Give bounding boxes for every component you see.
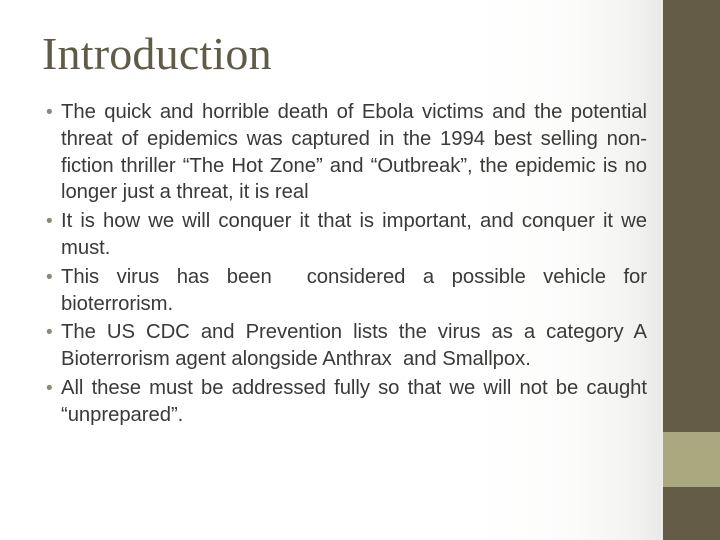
page-title: Introduction <box>42 26 642 82</box>
bullet-dot-icon: • <box>44 264 61 291</box>
bullet-dot-icon: • <box>44 99 61 126</box>
list-item: • The US CDC and Prevention lists the vi… <box>44 319 647 373</box>
bullet-dot-icon: • <box>44 208 61 235</box>
sidebar-accent-block <box>663 432 720 487</box>
list-item: • This virus has been considered a possi… <box>44 264 647 318</box>
list-item-text: The US CDC and Prevention lists the viru… <box>61 319 647 373</box>
list-item-text: All these must be addressed fully so tha… <box>61 375 647 429</box>
list-item-text: It is how we will conquer it that is imp… <box>61 208 647 262</box>
list-item-text: This virus has been considered a possibl… <box>61 264 647 318</box>
slide-canvas: Introduction • The quick and horrible de… <box>0 0 720 540</box>
list-item: • It is how we will conquer it that is i… <box>44 208 647 262</box>
bullet-dot-icon: • <box>44 375 61 402</box>
bullet-list: • The quick and horrible death of Ebola … <box>44 99 647 431</box>
list-item-text: The quick and horrible death of Ebola vi… <box>61 99 647 206</box>
list-item: • The quick and horrible death of Ebola … <box>44 99 647 206</box>
bullet-dot-icon: • <box>44 319 61 346</box>
list-item: • All these must be addressed fully so t… <box>44 375 647 429</box>
